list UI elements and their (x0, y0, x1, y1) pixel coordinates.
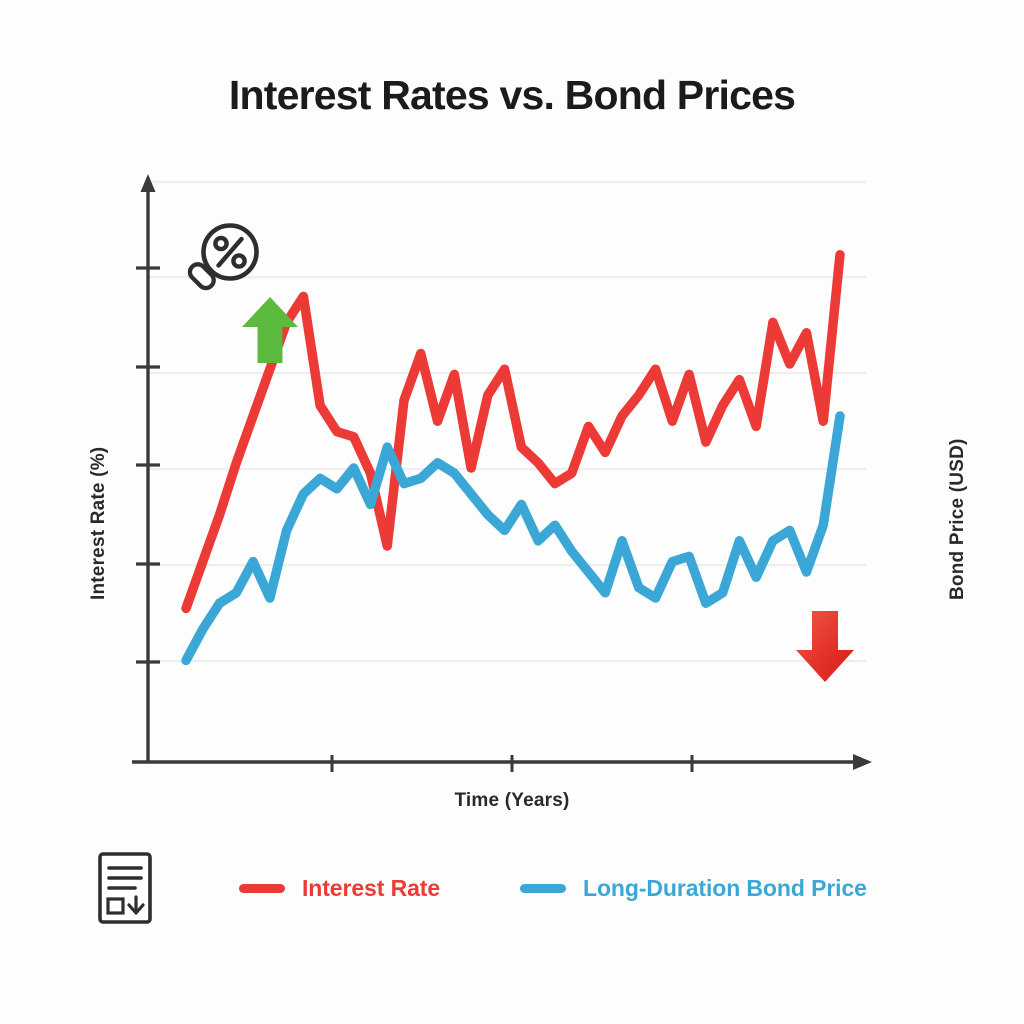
up-arrow-icon (241, 296, 299, 364)
legend-swatch-bond-price (520, 884, 566, 893)
legend-label-interest-rate: Interest Rate (302, 875, 440, 902)
series-line-bond-price (186, 416, 840, 660)
percent-magnifier-icon (176, 216, 268, 308)
chart-canvas: Interest Rates vs. Bond Prices Interest … (0, 0, 1024, 1024)
legend-item-bond-price[interactable]: Long-Duration Bond Price (520, 875, 867, 902)
legend-swatch-interest-rate (239, 884, 285, 893)
legend-item-interest-rate[interactable]: Interest Rate (239, 875, 440, 902)
down-arrow-icon (794, 609, 856, 683)
chart-legend: Interest Rate Long-Duration Bond Price (0, 848, 1024, 928)
document-download-icon[interactable] (97, 851, 153, 925)
legend-label-bond-price: Long-Duration Bond Price (583, 875, 867, 902)
